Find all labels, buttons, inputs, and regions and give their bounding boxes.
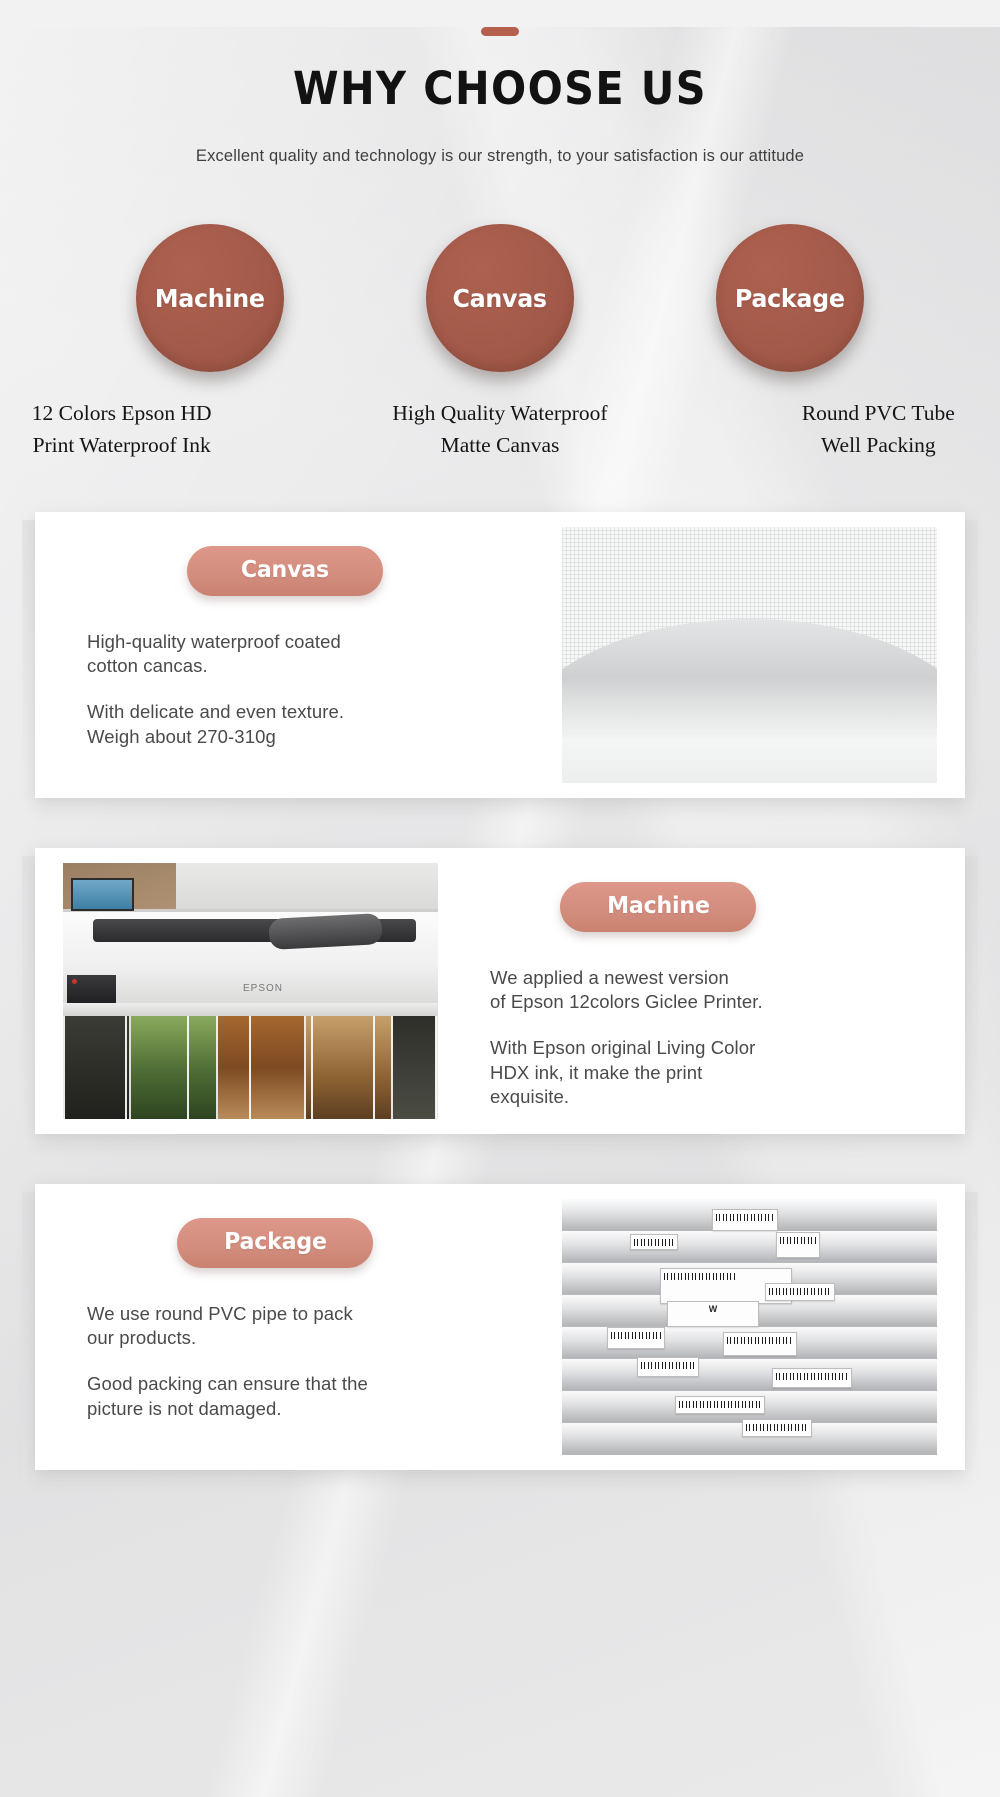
epson-printer-photo: EPSON — [63, 863, 438, 1119]
pill-label: Machine — [607, 893, 710, 919]
package-paragraph-1: We use round PVC pipe to pack our produc… — [87, 1302, 532, 1351]
barcode — [634, 1239, 674, 1246]
machine-card-text: Machine We applied a newest version of E… — [438, 848, 965, 1134]
machine-paragraph-1: We applied a newest version of Epson 12c… — [490, 966, 935, 1015]
circle-label: Canvas — [453, 284, 547, 313]
page-subtitle: Excellent quality and technology is our … — [0, 147, 1000, 166]
printer-control-screen — [71, 878, 135, 911]
feature-circle-machine: Machine — [133, 224, 288, 372]
shipping-label — [776, 1232, 820, 1258]
barcode — [769, 1288, 831, 1295]
shipping-label — [712, 1209, 778, 1231]
printer-room-wall-right — [176, 863, 439, 914]
barcode — [716, 1214, 774, 1221]
circle-badge: Machine — [136, 224, 284, 372]
feature-caption-package: Round PVC Tube Well Packing — [757, 398, 1000, 462]
circle-label: Package — [735, 284, 845, 313]
shipping-label — [723, 1332, 797, 1356]
caption-line-1: High Quality Waterproof — [378, 398, 621, 430]
machine-pill-badge[interactable]: Machine — [560, 882, 756, 932]
pvc-tube — [562, 1359, 937, 1391]
epson-brand-label: EPSON — [243, 983, 283, 994]
package-card-shell: Package We use round PVC pipe to pack ou… — [0, 1184, 1000, 1470]
caption-line-2: Matte Canvas — [378, 430, 621, 462]
caption-line-1: 12 Colors Epson HD — [0, 398, 243, 430]
canvas-pill-badge[interactable]: Canvas — [187, 546, 383, 596]
barcode — [727, 1337, 793, 1344]
caption-line-2: Well Packing — [757, 430, 1000, 462]
canvas-paragraph-1: High-quality waterproof coated cotton ca… — [87, 630, 532, 679]
machine-paragraph-2: With Epson original Living Color HDX ink… — [490, 1036, 935, 1109]
printed-panel-seams — [63, 1016, 438, 1118]
shipping-label — [772, 1368, 852, 1388]
barcode — [611, 1332, 661, 1339]
feature-caption-canvas: High Quality Waterproof Matte Canvas — [378, 398, 621, 462]
canvas-card-shell: Canvas High-quality waterproof coated co… — [0, 512, 1000, 798]
page-title: WHY CHOOSE US — [40, 62, 960, 115]
shipping-label — [765, 1283, 835, 1301]
barcode — [776, 1373, 848, 1380]
feature-circle-package: Package — [713, 224, 868, 372]
circle-badge: Package — [716, 224, 864, 372]
package-feature-card: Package We use round PVC pipe to pack ou… — [35, 1184, 965, 1470]
printer-media-roll — [269, 913, 383, 950]
barcode — [641, 1362, 695, 1369]
shipping-label — [607, 1327, 665, 1349]
shipping-label-primary: W — [667, 1301, 759, 1327]
package-paragraph-2: Good packing can ensure that the picture… — [87, 1372, 532, 1421]
barcode — [746, 1424, 808, 1431]
pvc-tube-packing-photo: W — [562, 1199, 937, 1455]
barcode — [664, 1273, 736, 1280]
shipping-label — [630, 1234, 678, 1250]
canvas-card-text: Canvas High-quality waterproof coated co… — [35, 512, 562, 798]
package-pill-badge[interactable]: Package — [177, 1218, 373, 1268]
printer-status-dot — [72, 979, 77, 984]
shipping-label — [637, 1357, 699, 1377]
canvas-feature-card: Canvas High-quality waterproof coated co… — [35, 512, 965, 798]
pill-label: Package — [224, 1229, 327, 1255]
printer-ink-panel — [67, 975, 116, 1003]
feature-caption-row: 12 Colors Epson HD Print Waterproof Ink … — [0, 398, 1000, 462]
canvas-sheet-edge — [562, 619, 937, 783]
accent-dash-divider — [481, 27, 519, 36]
pill-label: Canvas — [241, 557, 329, 583]
feature-circle-canvas: Canvas — [423, 224, 578, 372]
circle-badge: Canvas — [426, 224, 574, 372]
barcode — [780, 1237, 816, 1244]
pvc-tube — [562, 1231, 937, 1263]
why-choose-us-page: WHY CHOOSE US Excellent quality and tech… — [0, 27, 1000, 1510]
caption-line-1: Round PVC Tube — [757, 398, 1000, 430]
feature-caption-machine: 12 Colors Epson HD Print Waterproof Ink — [0, 398, 243, 462]
canvas-macro-photo — [562, 527, 937, 783]
tube-label-letter: W — [671, 1304, 755, 1315]
shipping-label — [675, 1396, 765, 1414]
barcode — [679, 1401, 761, 1408]
shipping-label — [742, 1419, 812, 1437]
machine-feature-card: EPSON Machine We applied a newest versio… — [35, 848, 965, 1134]
circle-label: Machine — [155, 284, 265, 313]
canvas-paragraph-2: With delicate and even texture. Weigh ab… — [87, 700, 532, 749]
caption-line-2: Print Waterproof Ink — [0, 430, 243, 462]
feature-circle-row: Machine Canvas Package — [0, 224, 1000, 372]
machine-card-shell: EPSON Machine We applied a newest versio… — [0, 848, 1000, 1134]
package-card-text: Package We use round PVC pipe to pack ou… — [35, 1184, 562, 1470]
